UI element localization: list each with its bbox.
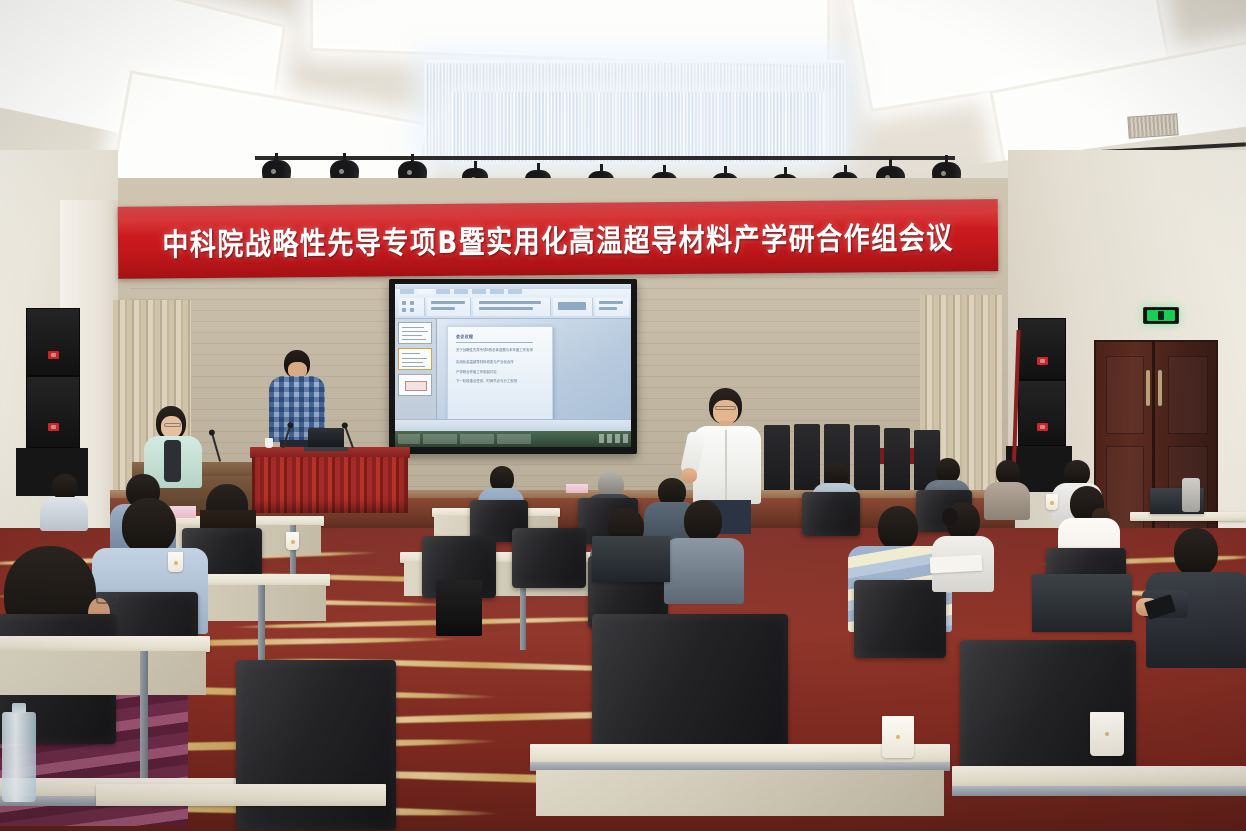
ribbon-tab[interactable] — [454, 289, 468, 294]
emergency-exit-sign — [1143, 307, 1179, 324]
slide-body-line: 产学研合作组工作机制讨论 — [456, 370, 545, 375]
desk-side — [0, 651, 206, 695]
slide-thumbnail-selected[interactable] — [398, 348, 432, 370]
pa-speaker-mid-left — [26, 376, 80, 448]
desk-edge — [952, 786, 1246, 796]
ppt-current-slide[interactable]: 会议议程 关于战略性先导专项B的总体进展与本年度工作安排 实用化高温超导材料研发… — [447, 326, 553, 425]
slide-thumbnail[interactable] — [398, 322, 432, 344]
ppt-ribbon — [395, 289, 631, 319]
ribbon-tab[interactable] — [418, 289, 432, 294]
ribbon-group[interactable] — [473, 298, 551, 316]
conference-banner: 中科院战略性先导专项B暨实用化高温超导材料产学研合作组会议 — [118, 199, 999, 279]
ppt-ribbon-tabs[interactable] — [397, 289, 631, 295]
ribbon-group[interactable] — [595, 298, 629, 316]
glasses-icon — [164, 423, 181, 427]
slide-title: 会议议程 — [456, 334, 545, 340]
taskbar-item[interactable] — [497, 434, 531, 444]
paper-cup — [286, 532, 299, 550]
slide-title-rule — [456, 342, 533, 343]
paper-cup — [168, 552, 183, 572]
pa-speaker-top-left — [26, 308, 80, 376]
water-bottle — [2, 712, 36, 802]
torso — [40, 497, 88, 531]
conference-hall-photo: 中科院战略性先导专项B暨实用化高温超导材料产学研合作组会议 — [0, 0, 1246, 831]
ppt-slide-thumbnail-pane[interactable] — [395, 319, 437, 431]
head — [122, 498, 176, 554]
podium-table-skirt — [252, 457, 408, 513]
hand-gesturing — [681, 468, 697, 483]
ribbon-group[interactable] — [399, 298, 425, 316]
glasses-icon — [715, 406, 736, 410]
slide-body-line: 实用化高温超导材料研发与产业化合作 — [456, 360, 545, 365]
taskbar-start-button[interactable] — [398, 434, 420, 444]
chair — [592, 614, 788, 756]
taskbar-item[interactable] — [423, 434, 457, 444]
torso — [1146, 572, 1246, 668]
head — [1174, 528, 1218, 576]
ribbon-group[interactable] — [553, 298, 593, 316]
door-handle-left — [1146, 370, 1150, 406]
chair — [802, 492, 860, 536]
glasses-icon — [96, 594, 118, 604]
system-tray[interactable] — [599, 434, 628, 443]
pa-speaker-top-right — [1018, 318, 1066, 380]
slide-body-line: 下一阶段重点任务、时间节点与分工安排 — [456, 379, 545, 384]
crystal-chandelier-lower — [452, 92, 824, 162]
desk-leg — [140, 651, 148, 781]
desk — [96, 784, 386, 806]
torso — [984, 482, 1030, 520]
thermos-flask — [1182, 478, 1200, 512]
slide-body-line: 关于战略性先导专项B的总体进展与本年度工作安排 — [456, 348, 545, 353]
taskbar-item[interactable] — [460, 434, 494, 444]
document-paper — [930, 555, 983, 574]
podium-laptop — [308, 428, 344, 448]
slide-thumbnail[interactable] — [398, 374, 432, 396]
inner-top — [164, 440, 181, 482]
door-handle-right — [1158, 370, 1162, 406]
ppt-status-bar — [395, 419, 631, 431]
hair-bun — [942, 508, 958, 526]
ribbon-tab[interactable] — [472, 289, 486, 294]
laptop — [1032, 574, 1132, 632]
paper-cup — [1090, 712, 1124, 756]
os-taskbar[interactable] — [395, 431, 631, 447]
shirt-placket — [725, 430, 727, 502]
torso — [664, 538, 744, 604]
face — [161, 416, 182, 438]
banner-text: 中科院战略性先导专项B暨实用化高温超导材料产学研合作组会议 — [162, 214, 954, 265]
chair — [854, 580, 946, 658]
chair — [512, 528, 586, 588]
pa-speaker-mid-right — [1018, 380, 1066, 446]
head — [684, 500, 722, 542]
air-vent-grille — [1127, 113, 1178, 138]
lighting-truss — [255, 156, 955, 160]
nameplate — [566, 484, 588, 493]
projection-screen: 会议议程 关于战略性先导专项B的总体进展与本年度工作安排 实用化高温超导材料研发… — [395, 284, 631, 447]
ribbon-tab[interactable] — [400, 289, 414, 294]
head — [878, 506, 918, 550]
podium-cup — [265, 438, 273, 448]
ribbon-group[interactable] — [427, 298, 471, 316]
paper-cup — [1046, 494, 1058, 510]
ribbon-tab[interactable] — [490, 289, 504, 294]
briefcase — [436, 580, 482, 636]
paper-cup — [882, 716, 914, 758]
desk — [0, 636, 210, 652]
running-man-icon — [1147, 310, 1175, 321]
laptop — [592, 536, 670, 582]
desk-side — [536, 770, 944, 816]
desk — [952, 766, 1246, 788]
ribbon-tab[interactable] — [436, 289, 450, 294]
ribbon-tab[interactable] — [508, 289, 522, 294]
